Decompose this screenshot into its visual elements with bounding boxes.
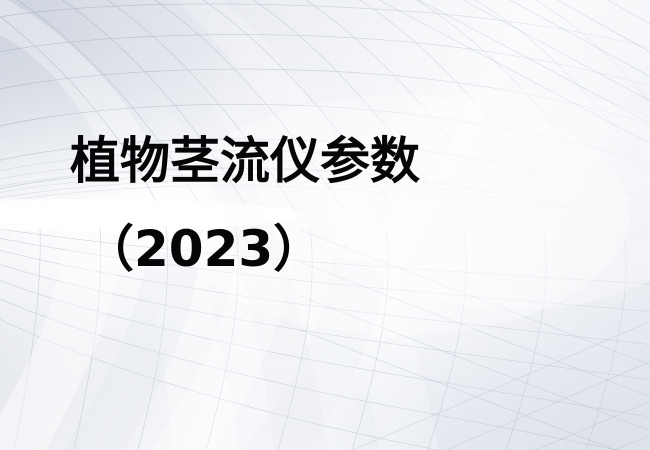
title-slide: 植物茎流仪参数 （2023） <box>0 0 650 450</box>
background-highlight-streak <box>0 204 280 222</box>
